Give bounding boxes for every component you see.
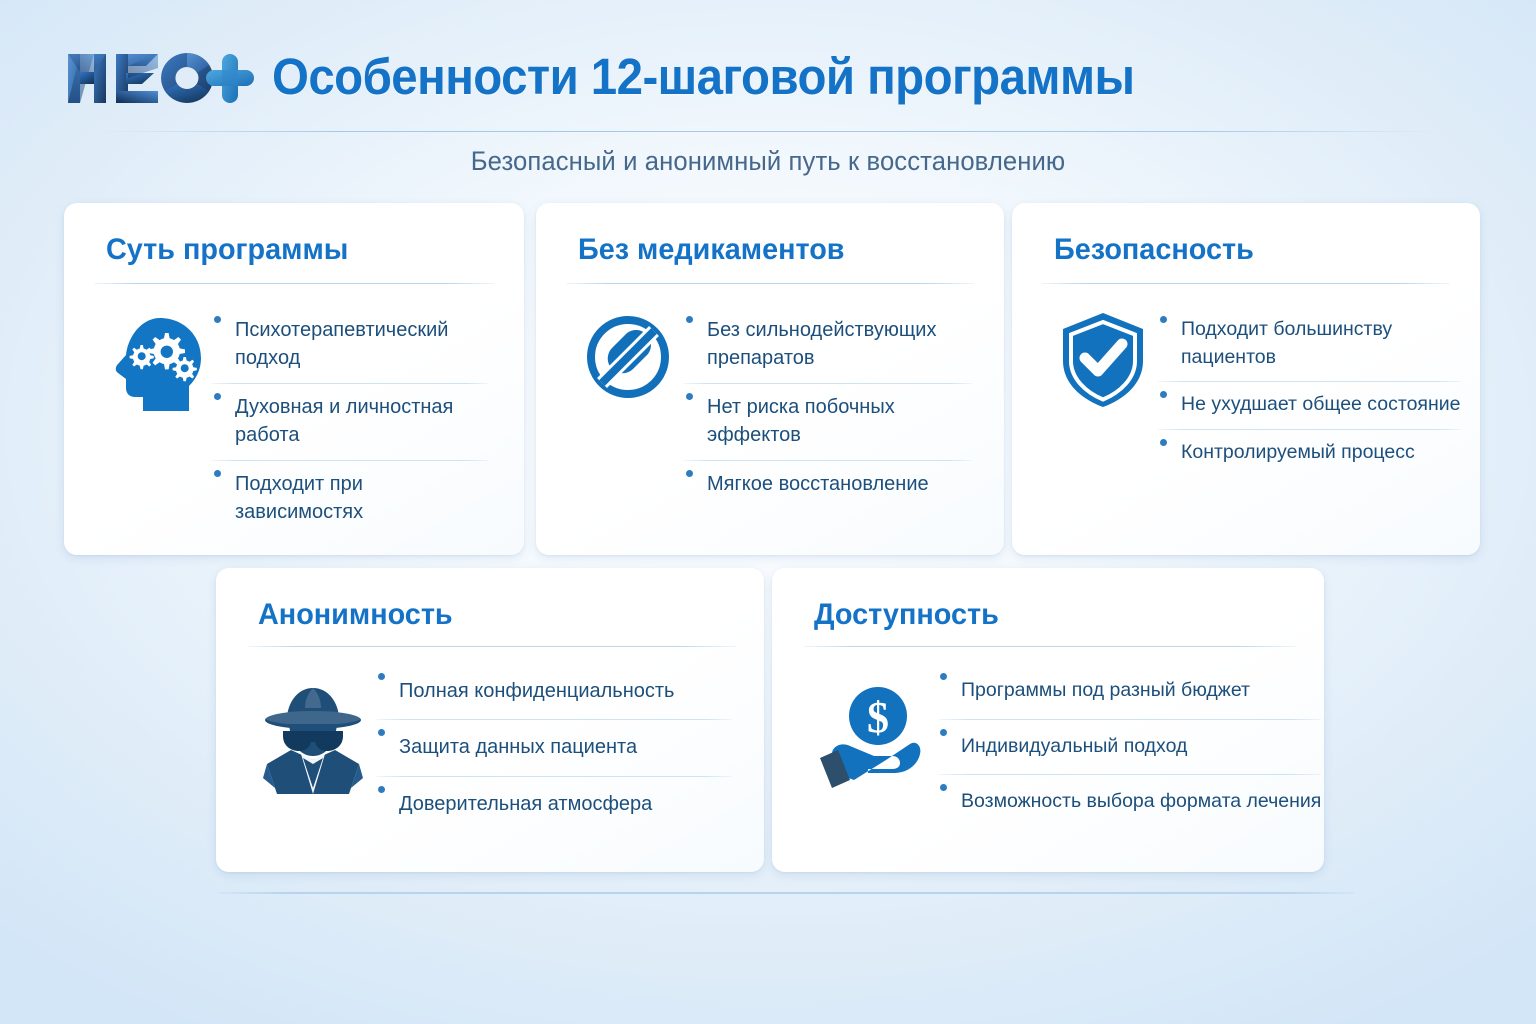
card-title-divider (248, 646, 736, 647)
bullet-dot-icon (940, 784, 947, 791)
svg-text:$: $ (867, 693, 889, 742)
page-header: Особенности 12-шаговой программы (0, 0, 1536, 132)
list-item-label: Без сильнодействующих препаратов (707, 319, 936, 369)
list-item: Без сильнодействующих препаратов (684, 307, 972, 384)
list-item: Индивидуальный подход (938, 720, 1321, 776)
bullet-dot-icon (214, 470, 221, 477)
card-title-divider (804, 646, 1296, 647)
card-dostupnost[interactable]: Доступность $ Программы под разный бюдже… (772, 568, 1324, 872)
card-title-divider (1042, 283, 1450, 284)
neo-plus-logo (64, 48, 260, 110)
card-bullet-list: Программы под разный бюджет Индивидуальн… (938, 664, 1321, 831)
footer-divider (218, 892, 1354, 894)
bullet-dot-icon (1160, 439, 1167, 446)
list-item-label: Доверительная атмосфера (399, 793, 652, 815)
list-item-label: Духовная и личностная работа (235, 396, 453, 446)
list-item: Мягкое восстановление (684, 461, 972, 509)
list-item: Духовная и личностная работа (212, 384, 488, 461)
card-bez-medikamentov[interactable]: Без медикаментов Без сильнодействующих п… (536, 203, 1004, 555)
list-item: Подходит при зависимостях (212, 461, 488, 538)
list-item-label: Полная конфиденциальность (399, 680, 674, 702)
list-item: Возможность выбора формата лечения (938, 775, 1321, 831)
card-body: Полная конфиденциальность Защита данных … (250, 664, 732, 833)
anonymous-person-icon (250, 664, 376, 796)
neo-plus-logo-icon (64, 48, 260, 110)
card-bullet-list: Подходит большинству пациентов Не ухудша… (1158, 307, 1461, 478)
card-title: Доступность (814, 598, 999, 632)
card-body: Подходит большинству пациентов Не ухудша… (1048, 307, 1448, 478)
bullet-dot-icon (214, 316, 221, 323)
list-item-label: Индивидуальный подход (961, 735, 1187, 757)
no-pills-icon (572, 307, 684, 401)
list-item-label: Не ухудшает общее состояние (1181, 393, 1461, 415)
bullet-dot-icon (1160, 391, 1167, 398)
hand-holding-coin-icon: $ (806, 664, 938, 792)
list-item: Защита данных пациента (376, 720, 732, 776)
list-item-label: Мягкое восстановление (707, 473, 929, 495)
page-subtitle: Безопасный и анонимный путь к восстановл… (38, 146, 1497, 177)
bullet-dot-icon (686, 393, 693, 400)
list-item: Нет риска побочных эффектов (684, 384, 972, 461)
list-item: Полная конфиденциальность (376, 664, 732, 720)
hand-holding-coin-icon-glyph: $ (816, 684, 928, 792)
bullet-dot-icon (378, 673, 385, 680)
bullet-dot-icon (378, 786, 385, 793)
list-item: Доверительная атмосфера (376, 777, 732, 833)
bullet-dot-icon (1160, 316, 1167, 323)
bullet-dot-icon (686, 316, 693, 323)
anonymous-person-icon-glyph (261, 684, 365, 796)
shield-check-icon-glyph (1059, 311, 1147, 409)
no-pills-icon-glyph (584, 313, 672, 401)
list-item: Не ухудшает общее состояние (1158, 382, 1461, 430)
card-title-divider (94, 283, 494, 284)
card-bullet-list: Полная конфиденциальность Защита данных … (376, 664, 732, 833)
bullet-dot-icon (940, 729, 947, 736)
page-title: Особенности 12-шаговой программы (272, 47, 1134, 106)
card-body: Без сильнодействующих препаратов Нет рис… (572, 307, 972, 509)
list-item-label: Психотерапевтический подход (235, 319, 448, 369)
list-item-label: Подходит большинству пациентов (1181, 318, 1392, 368)
list-item: Программы под разный бюджет (938, 664, 1321, 720)
card-sut-programmy[interactable]: Суть программы (64, 203, 524, 555)
bullet-dot-icon (378, 729, 385, 736)
list-item-label: Подходит при зависимостях (235, 473, 363, 523)
bullet-dot-icon (214, 393, 221, 400)
list-item-label: Программы под разный бюджет (961, 679, 1250, 701)
header-divider (96, 131, 1440, 132)
card-title: Анонимность (258, 598, 453, 632)
head-with-gears-icon-glyph (113, 315, 205, 415)
card-bullet-list: Без сильнодействующих препаратов Нет рис… (684, 307, 972, 509)
card-title: Без медикаментов (578, 233, 845, 267)
card-title-divider (566, 283, 974, 284)
list-item: Психотерапевтический подход (212, 307, 488, 384)
card-bullet-list: Психотерапевтический подход Духовная и л… (212, 307, 488, 537)
head-with-gears-icon (106, 307, 212, 415)
card-body: Психотерапевтический подход Духовная и л… (106, 307, 488, 537)
card-title: Суть программы (106, 233, 348, 267)
card-body: $ Программы под разный бюджет Индивидуал… (806, 664, 1292, 831)
card-anonimnost[interactable]: Анонимность (216, 568, 764, 872)
bullet-dot-icon (686, 470, 693, 477)
list-item: Подходит большинству пациентов (1158, 307, 1461, 382)
list-item: Контролируемый процесс (1158, 430, 1461, 478)
list-item-label: Возможность выбора формата лечения (961, 790, 1321, 812)
bullet-dot-icon (940, 673, 947, 680)
card-title: Безопасность (1054, 233, 1254, 267)
shield-check-icon (1048, 307, 1158, 409)
list-item-label: Нет риска побочных эффектов (707, 396, 895, 446)
card-bezopasnost[interactable]: Безопасность Подходит большинству пациен… (1012, 203, 1480, 555)
list-item-label: Защита данных пациента (399, 736, 637, 758)
list-item-label: Контролируемый процесс (1181, 441, 1415, 463)
